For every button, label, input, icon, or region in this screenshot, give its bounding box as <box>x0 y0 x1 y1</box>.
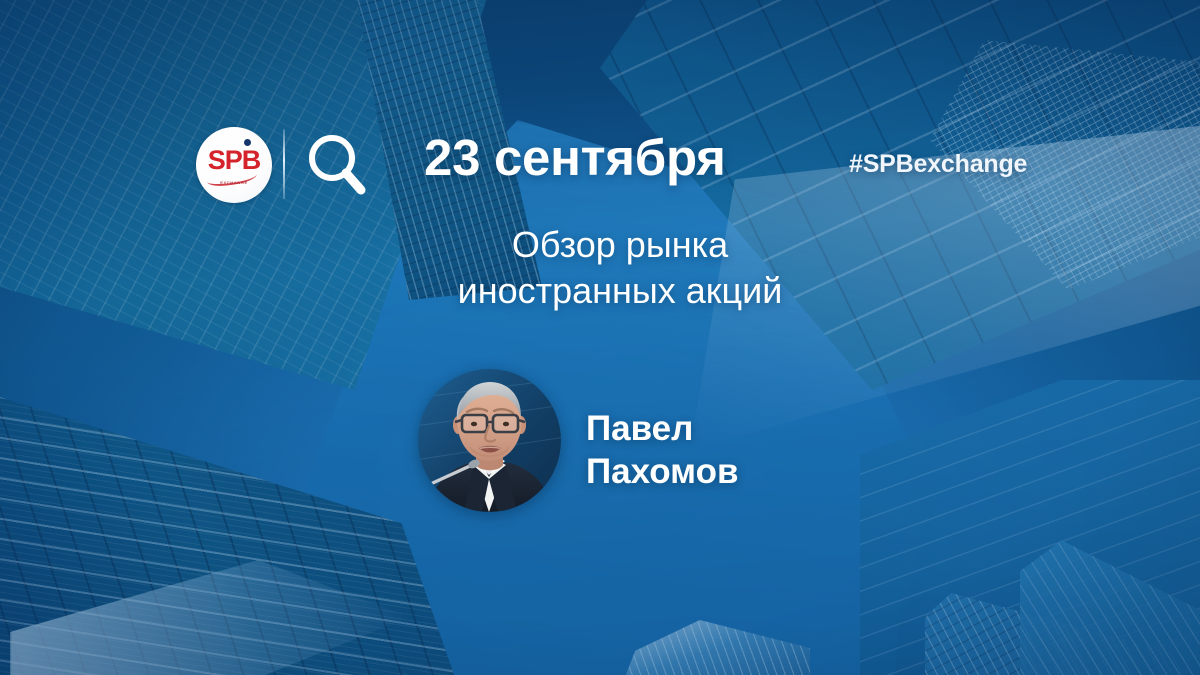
promo-banner: SPB EXCHANGE 23 сентября #SPBexchange Об… <box>0 0 1200 675</box>
logo-subtext: EXCHANGE <box>196 180 272 185</box>
avatar <box>418 369 561 512</box>
banner-content: SPB EXCHANGE 23 сентября #SPBexchange Об… <box>0 0 1200 675</box>
spb-logo: SPB EXCHANGE <box>196 127 272 203</box>
hashtag-label: #SPBexchange <box>849 150 1027 179</box>
page-title: 23 сентября <box>424 131 726 185</box>
subtitle: Обзор рынка иностранных акций <box>300 222 940 314</box>
subtitle-line-2: иностранных акций <box>300 268 940 314</box>
search-icon <box>306 132 368 198</box>
speaker-name: Павел Пахомов <box>586 408 738 493</box>
speaker-first-name: Павел <box>586 408 738 451</box>
subtitle-line-1: Обзор рынка <box>300 222 940 268</box>
speaker-last-name: Пахомов <box>586 451 738 494</box>
logo-divider <box>283 129 285 199</box>
